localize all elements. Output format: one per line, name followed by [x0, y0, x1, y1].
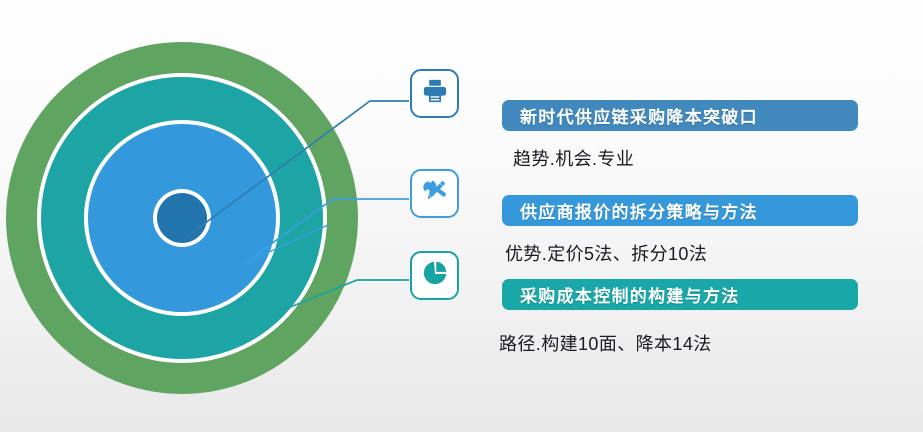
subtitle-3: 路径.构建10面、降本14法	[499, 330, 712, 356]
pie-chart-icon-box[interactable]	[410, 251, 459, 300]
banner-title-3[interactable]: 采购成本控制的构建与方法	[502, 279, 858, 310]
printer-icon	[421, 77, 449, 110]
banner-title-2[interactable]: 供应商报价的拆分策略与方法	[502, 195, 858, 226]
pie-chart-icon	[421, 259, 449, 292]
subtitle-1: 趋势.机会.专业	[513, 145, 634, 171]
diagram-canvas: 新时代供应链采购降本突破口 趋势.机会.专业 供应商报价的拆分策略与方法	[0, 0, 923, 432]
concentric-target-graphic	[6, 42, 358, 394]
printer-icon-box[interactable]	[410, 69, 459, 118]
subtitle-2: 优势.定价5法、拆分10法	[505, 240, 707, 266]
core-dot-dark-blue	[157, 193, 207, 243]
banner-title-1[interactable]: 新时代供应链采购降本突破口	[502, 100, 858, 131]
wrench-screwdriver-icon	[420, 177, 449, 211]
wrench-screwdriver-icon-box[interactable]	[410, 169, 459, 218]
